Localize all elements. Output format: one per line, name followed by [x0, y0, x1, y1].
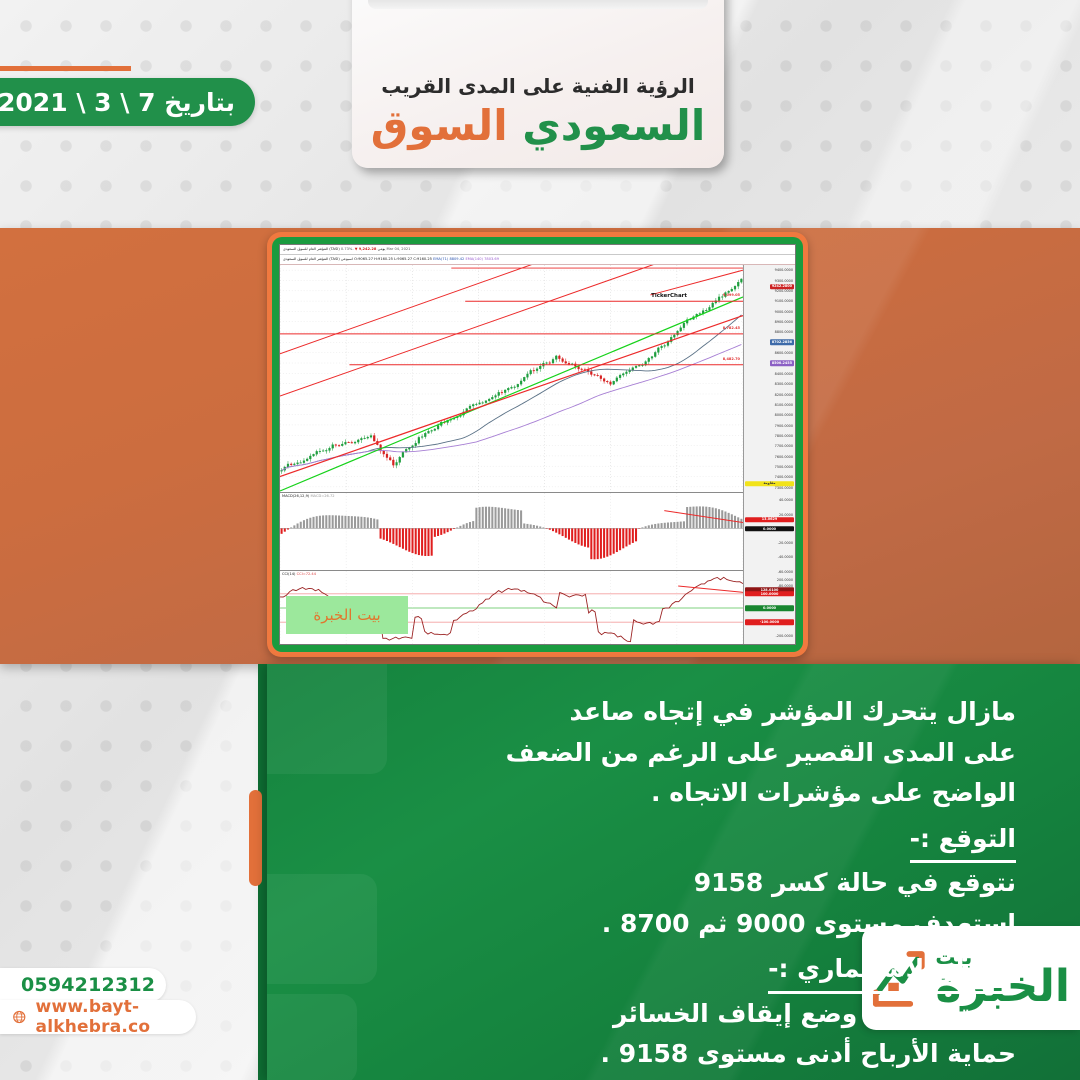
chart-change-arrow-icon: ▼	[355, 247, 358, 251]
title-subtitle: الرؤية الفنية على المدى القريب	[381, 74, 695, 98]
ema140-label: EMA(140)	[465, 257, 483, 261]
price-scale-label: 7700.0000	[775, 444, 793, 448]
chart-symbol-name-ar-2: المؤشر العام للسوق السعودي	[283, 257, 328, 261]
ema140-value: 7803.69	[484, 257, 499, 261]
decision-line: الإحتفاظ مع وضع إيقاف الخسائر	[307, 994, 1016, 1035]
price-scale-label: 8200.0000	[775, 393, 793, 397]
price-scale-label: 9100.0000	[775, 299, 793, 303]
chart-symbol-code-2: (TASI)	[329, 257, 340, 261]
ema140-badge: 8500.2455	[770, 361, 794, 367]
price-scale-label: 8900.0000	[775, 320, 793, 324]
macd-scale-label: -20.0000	[778, 541, 793, 545]
title-word-saudi: السعودي	[522, 101, 705, 150]
chart-header-line-1: المؤشر العام للسوق السعودي (TASI) يومي 9…	[280, 245, 795, 255]
analysis-body-line: مازال يتحرك المؤشر في إتجاه صاعد	[307, 692, 1016, 733]
price-scale-label: 8400.0000	[775, 372, 793, 376]
analysis-text: مازال يتحرك المؤشر في إتجاه صاعد على الم…	[267, 664, 1080, 1075]
macd-value-badge: 13.0629	[745, 517, 794, 523]
ohlc-low: L:9065.27	[394, 257, 412, 261]
ohlc-open: O:9065.27	[354, 257, 373, 261]
macd-value-badge: 0.0000	[745, 526, 794, 532]
price-scale-label: 7500.0000	[775, 465, 793, 469]
ohlc-high: H:9160.25	[374, 257, 393, 261]
volume-badge: مقاومة	[745, 481, 794, 487]
ohlc-close: C:9160.25	[413, 257, 432, 261]
macd-scale-label: 40.0000	[779, 498, 793, 502]
chart-change-percent: -0.73%	[341, 247, 354, 251]
chart-header-line-2: المؤشر العام للسوق السعودي (TASI) اسبوعي…	[280, 255, 795, 265]
candlestick-plot	[280, 265, 743, 492]
decision-heading: القرار الإستثماري :-	[768, 950, 1016, 994]
cci-title: CCI(14) CCI=72.44	[282, 572, 316, 576]
price-scale-label: 7600.0000	[775, 455, 793, 459]
macd-panel[interactable]: MACD(26,12,9) MACD=26.72	[280, 493, 743, 571]
price-scale-label: 8800.0000	[775, 330, 793, 334]
price-scale-label: 8000.0000	[775, 413, 793, 417]
price-scale-label: 9200.0000	[775, 289, 793, 293]
page-title: السعودي السوق	[371, 104, 705, 148]
macd-scale-label: -60.0000	[778, 570, 793, 574]
price-scale-label: 9400.0000	[775, 268, 793, 272]
price-scale-label: 9300.0000	[775, 279, 793, 283]
phone-number: 0594212312	[21, 974, 155, 996]
brand-watermark: بيت الخبرة	[286, 596, 408, 634]
forecast-line: نتوقع في حالة كسر 9158	[307, 863, 1016, 904]
title-card: الرؤية الفنية على المدى القريب السعودي ا…	[352, 0, 724, 168]
cci-panel[interactable]: CCI(14) CCI=72.44 بيت الخبرة	[280, 571, 743, 645]
last-price-badge: 9242.2800	[770, 284, 794, 290]
price-scale-label: 8100.0000	[775, 403, 793, 407]
forecast-line: إستهدف مستوى 9000 ثم 8700 .	[307, 904, 1016, 945]
cci-scale-label: 200.0000	[777, 578, 793, 582]
price-scale-label: 7900.0000	[775, 424, 793, 428]
price-panel[interactable]: TickerChart 9,099.058,782.458,482.70	[280, 265, 743, 493]
cci-value-badge: 100.0000	[745, 591, 794, 597]
macd-scale-label: -40.0000	[778, 555, 793, 559]
title-word-market: السوق	[371, 101, 508, 150]
price-scale-label: 9000.0000	[775, 310, 793, 314]
analysis-body-line: الواضح على مؤشرات الاتجاه .	[307, 773, 1016, 814]
tickerchart-screenshot[interactable]: المؤشر العام للسوق السعودي (TASI) يومي 9…	[279, 244, 796, 645]
chart-timeframe-2: اسبوعي	[341, 257, 353, 261]
support-resistance-label: 8,482.70	[723, 357, 740, 361]
cci-scale-label: -200.0000	[776, 634, 793, 638]
header-orange-rule	[0, 66, 131, 71]
chart-date: Mar 04, 2021	[387, 247, 411, 251]
price-scale-label: 8300.0000	[775, 382, 793, 386]
chart-symbol-code: (TASI)	[329, 247, 340, 251]
analysis-panel: مازال يتحرك المؤشر في إتجاه صاعد على الم…	[267, 664, 1080, 1080]
ema71-label: EMA(71)	[433, 257, 448, 261]
tickerchart-watermark: TickerChart	[651, 293, 687, 299]
website-url: www.bayt-alkhebra.co	[36, 997, 180, 1037]
support-resistance-label: 9,099.05	[723, 293, 740, 297]
chart-frame: المؤشر العام للسوق السعودي (TASI) يومي 9…	[267, 232, 808, 657]
support-resistance-label: 8,782.45	[723, 326, 740, 330]
price-scale-label: 8600.0000	[775, 351, 793, 355]
chart-timeframe: يومي	[378, 247, 386, 251]
cci-value-badge: -100.0000	[745, 619, 794, 625]
macd-title: MACD(26,12,9) MACD=26.72	[282, 494, 335, 498]
globe-icon	[12, 1006, 27, 1028]
macd-histogram	[280, 493, 743, 570]
cci-value-badge: 0.0000	[745, 605, 794, 611]
orange-accent-tab	[249, 790, 262, 886]
forecast-heading: التوقع :-	[910, 820, 1016, 864]
chart-green-border: المؤشر العام للسوق السعودي (TASI) يومي 9…	[272, 237, 803, 652]
chart-last-price: 9,242.28	[359, 247, 377, 251]
price-scale-label: 7400.0000	[775, 475, 793, 479]
website-contact[interactable]: www.bayt-alkhebra.co	[0, 1000, 196, 1034]
decision-line: حماية الأرباح أدنى مستوى 9158 .	[307, 1034, 1016, 1075]
analysis-body-line: على المدى القصير على الرغم من الضعف	[307, 733, 1016, 774]
chart-symbol-name-ar: المؤشر العام للسوق السعودي	[283, 247, 328, 251]
price-scale-column: 9400.00009300.00009200.00009100.00009000…	[743, 265, 795, 644]
date-badge: بتاريخ 7 \ 3 \ 2021	[0, 78, 255, 126]
ema71-value: 8809.42	[449, 257, 464, 261]
price-scale-label: 7800.0000	[775, 434, 793, 438]
ema71-badge: 8702.2856	[770, 340, 794, 346]
